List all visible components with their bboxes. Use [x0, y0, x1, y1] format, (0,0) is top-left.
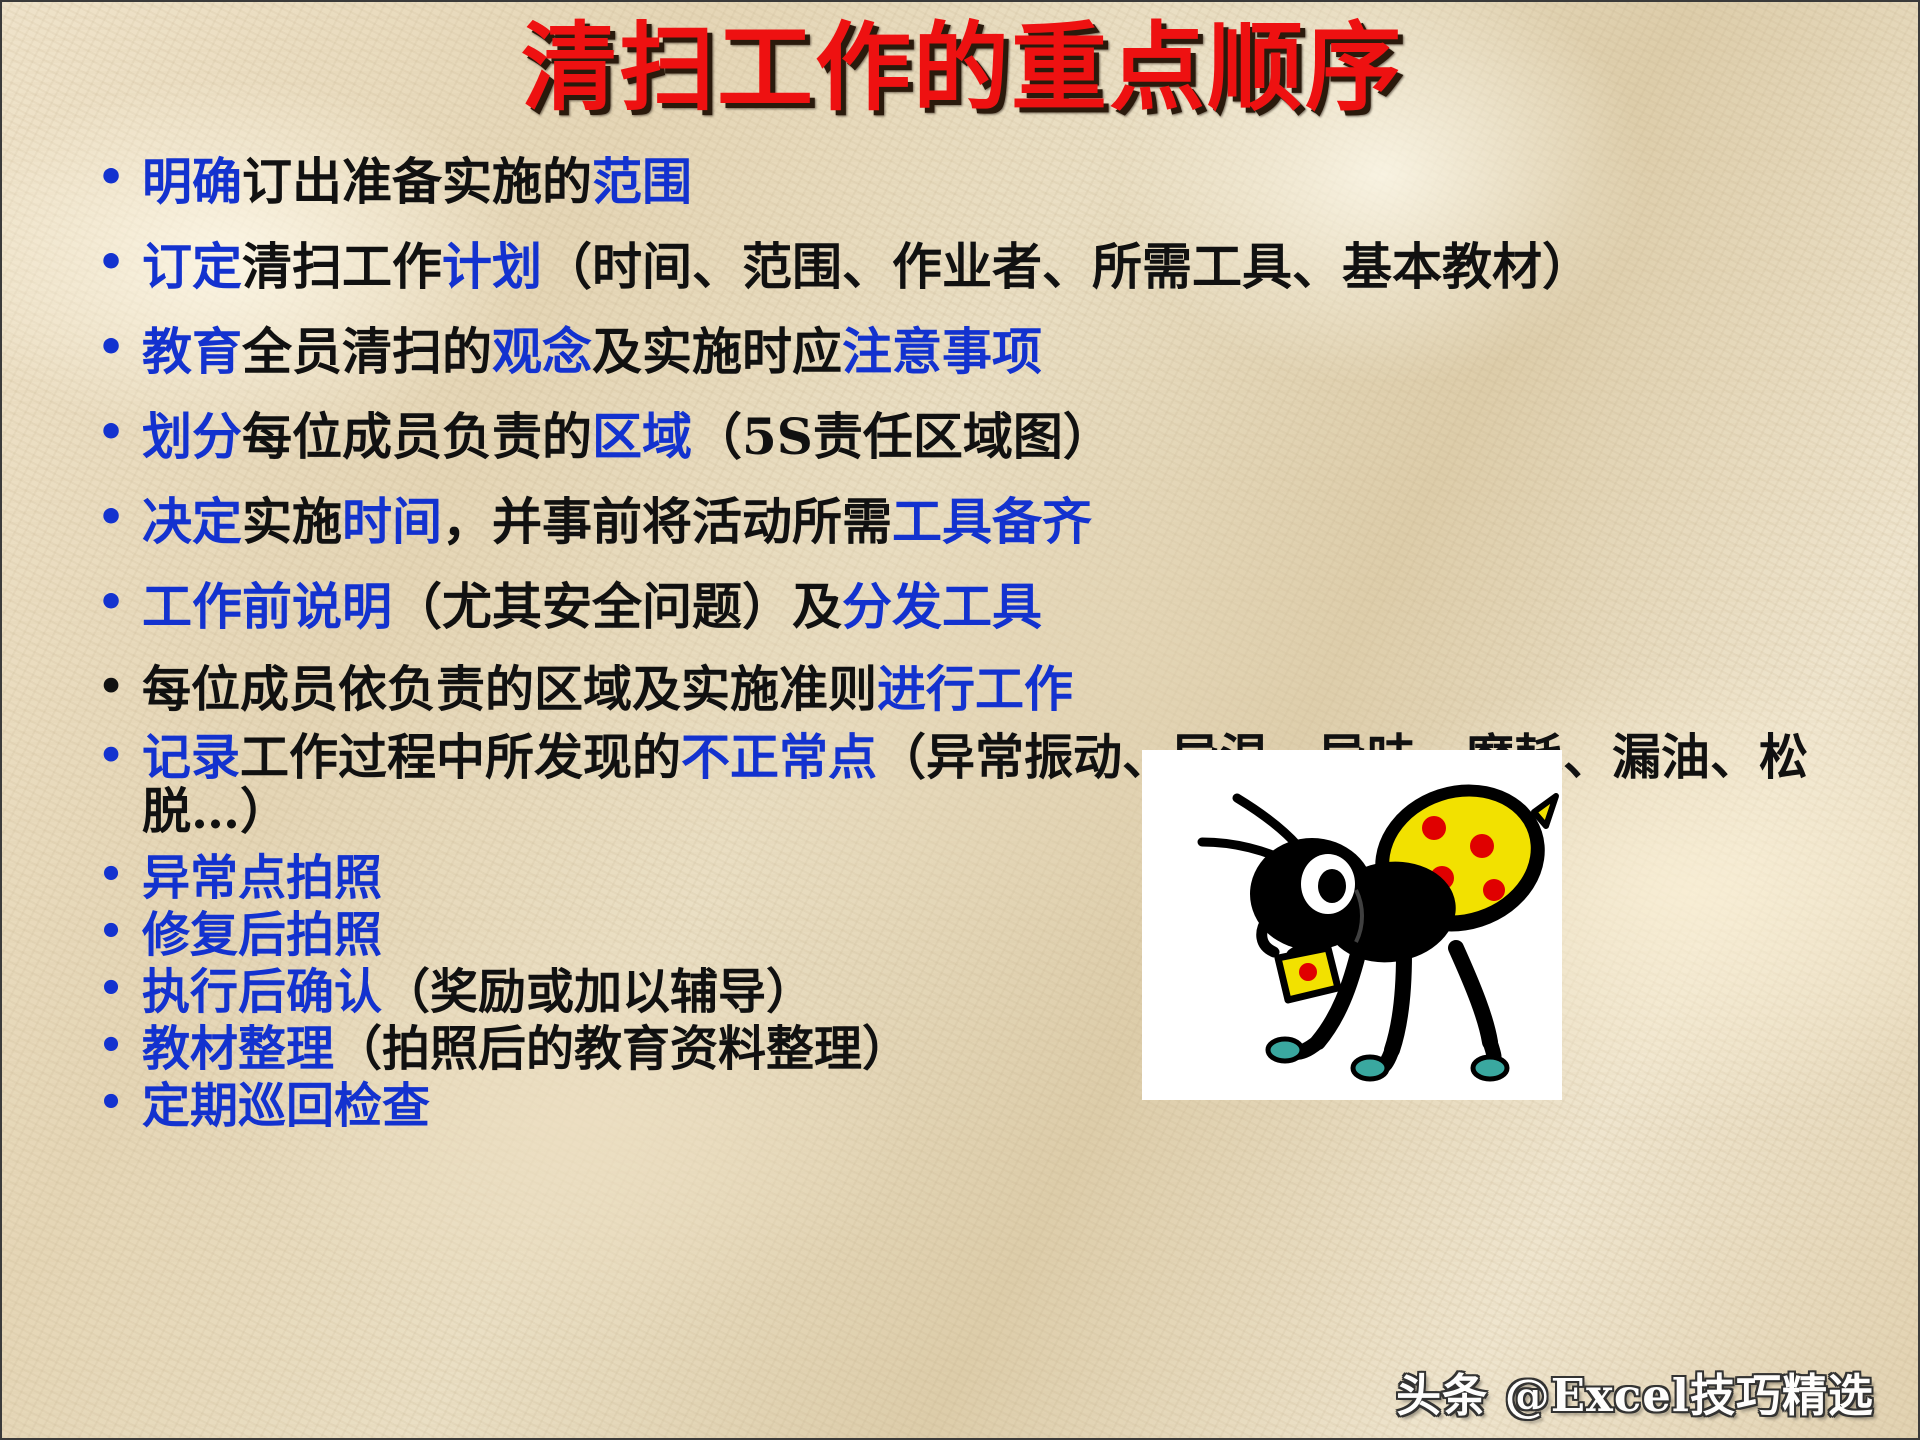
- list-item-text: 修复后拍照: [142, 908, 1860, 963]
- text-segment: 执行后确认: [142, 964, 382, 1020]
- text-segment: 异常点拍照: [142, 850, 382, 906]
- text-segment: 工具备齐: [892, 492, 1092, 551]
- slide-canvas: 清扫工作的重点顺序 • 明确订出准备实施的范围 • 订定清扫工作计划（时间、范围…: [0, 0, 1920, 1440]
- text-segment: 工作过程中所发现的: [240, 728, 681, 786]
- bullet-glyph-icon: •: [80, 1079, 142, 1123]
- bullet-glyph-icon: •: [80, 492, 142, 540]
- text-segment: 进行工作: [877, 660, 1073, 718]
- list-item-text: 工作前说明（尤其安全问题）及分发工具: [142, 577, 1860, 636]
- list-item-text: 明确订出准备实施的范围: [142, 152, 1860, 211]
- text-segment: 每位成员依负责的区域及实施准则: [142, 660, 877, 718]
- text-segment: 时间: [342, 492, 442, 551]
- text-segment: ，并事前将活动所需: [442, 492, 892, 551]
- list-item: • 定期巡回检查: [80, 1079, 1860, 1134]
- text-segment: 注意事项: [842, 322, 1042, 381]
- text-segment: 教育: [142, 322, 242, 381]
- text-segment: 清扫工作: [242, 237, 442, 296]
- text-segment: 全员清扫的: [242, 322, 492, 381]
- bullet-glyph-icon: •: [80, 908, 142, 952]
- text-segment: 每位成员负责的: [242, 407, 592, 466]
- list-item-text: 每位成员依负责的区域及实施准则进行工作: [142, 662, 1860, 717]
- bullet-glyph-icon: •: [80, 152, 142, 200]
- list-item: • 明确订出准备实施的范围: [80, 152, 1860, 211]
- text-segment: 教材整理: [142, 1021, 334, 1077]
- bullet-glyph-icon: •: [80, 851, 142, 895]
- bullet-glyph-icon: •: [80, 237, 142, 285]
- bullet-glyph-icon: •: [80, 965, 142, 1009]
- text-segment: 计划: [442, 237, 542, 296]
- list-item-text: 订定清扫工作计划（时间、范围、作业者、所需工具、基本教材）: [142, 237, 1860, 296]
- watermark-text: 头条 @Excel技巧精选: [1396, 1359, 1874, 1424]
- bullet-glyph-icon: •: [80, 407, 142, 455]
- bullet-glyph-icon: •: [80, 731, 142, 777]
- text-segment: 决定: [142, 492, 242, 551]
- text-segment: 范围: [592, 152, 692, 211]
- bullet-glyph-icon: •: [80, 662, 142, 708]
- list-item-text: 划分每位成员负责的区域（5S责任区域图）: [142, 407, 1860, 466]
- text-segment: 定期巡回检查: [142, 1078, 430, 1134]
- list-item-text: 教育全员清扫的观念及实施时应注意事项: [142, 322, 1860, 381]
- list-item-text: 教材整理（拍照后的教育资料整理）: [142, 1022, 1860, 1077]
- bullet-glyph-icon: •: [80, 1022, 142, 1066]
- list-item-text: 决定实施时间，并事前将活动所需工具备齐: [142, 492, 1860, 551]
- text-segment: 记录: [142, 728, 240, 786]
- list-item: • 划分每位成员负责的区域（5S责任区域图）: [80, 407, 1860, 466]
- list-item: • 异常点拍照: [80, 851, 1860, 906]
- text-segment: （拍照后的教育资料整理）: [334, 1021, 910, 1077]
- ant-cartoon-icon: [1142, 750, 1562, 1100]
- bullet-glyph-icon: •: [80, 322, 142, 370]
- list-item-text: 记录工作过程中所发现的不正常点（异常振动、异温、异味、磨耗、漏油、松脱…）: [142, 731, 1860, 839]
- list-item: • 决定实施时间，并事前将活动所需工具备齐: [80, 492, 1860, 551]
- list-item: • 订定清扫工作计划（时间、范围、作业者、所需工具、基本教材）: [80, 237, 1860, 296]
- text-segment: 划分: [142, 407, 242, 466]
- bullet-glyph-icon: •: [80, 577, 142, 625]
- text-segment: （时间、范围、作业者、所需工具、基本教材）: [542, 237, 1592, 296]
- list-item: • 记录工作过程中所发现的不正常点（异常振动、异温、异味、磨耗、漏油、松脱…）: [80, 731, 1860, 839]
- text-segment: （5S责任区域图）: [692, 407, 1113, 466]
- title-area: 清扫工作的重点顺序: [2, 20, 1920, 116]
- text-segment: 分发工具: [842, 577, 1042, 636]
- text-segment: 订定: [142, 237, 242, 296]
- text-segment: 实施: [242, 492, 342, 551]
- text-segment: （尤其安全问题）及: [392, 577, 842, 636]
- list-item: • 执行后确认（奖励或加以辅导）: [80, 965, 1860, 1020]
- text-segment: 明确: [142, 152, 242, 211]
- list-item-text: 执行后确认（奖励或加以辅导）: [142, 965, 1860, 1020]
- list-item: • 教育全员清扫的观念及实施时应注意事项: [80, 322, 1860, 381]
- text-segment: 修复后拍照: [142, 907, 382, 963]
- ant-illustration: [1142, 750, 1562, 1100]
- text-segment: 工作前说明: [142, 577, 392, 636]
- list-item: • 教材整理（拍照后的教育资料整理）: [80, 1022, 1860, 1077]
- text-segment: 订出准备实施的: [242, 152, 592, 211]
- text-segment: 区域: [592, 407, 692, 466]
- text-segment: 观念: [492, 322, 592, 381]
- list-item-text: 异常点拍照: [142, 851, 1860, 906]
- list-item: • 每位成员依负责的区域及实施准则进行工作: [80, 662, 1860, 717]
- text-segment: （奖励或加以辅导）: [382, 964, 814, 1020]
- bullet-list: • 明确订出准备实施的范围 • 订定清扫工作计划（时间、范围、作业者、所需工具、…: [80, 152, 1860, 1137]
- text-segment: 不正常点: [681, 728, 877, 786]
- list-item-text: 定期巡回检查: [142, 1079, 1860, 1134]
- list-item: • 工作前说明（尤其安全问题）及分发工具: [80, 577, 1860, 636]
- text-segment: 及实施时应: [592, 322, 842, 381]
- page-title: 清扫工作的重点顺序: [521, 20, 1403, 116]
- list-item: • 修复后拍照: [80, 908, 1860, 963]
